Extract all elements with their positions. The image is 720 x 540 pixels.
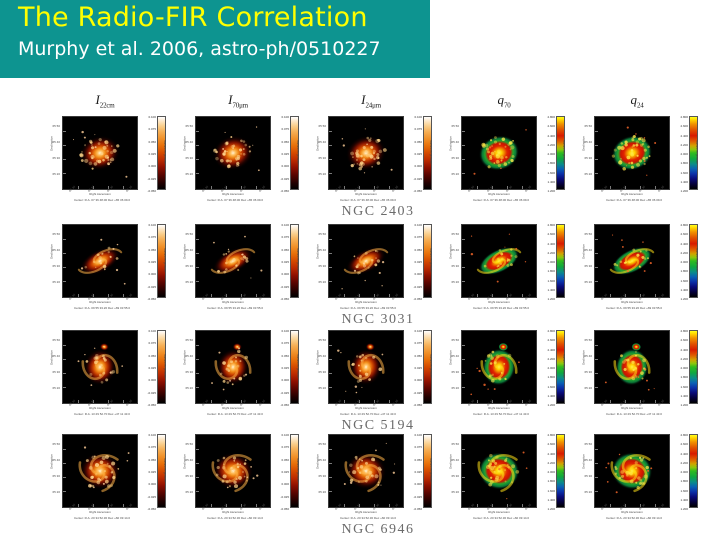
column-subscript: 24μm [365, 102, 380, 110]
galaxy-image [199, 438, 267, 504]
colorbar: 2.8002.6002.4002.2002.0001.8001.6001.400… [545, 116, 571, 190]
colorbar-title: Surface Brightness [296, 458, 300, 482]
axis-tick [63, 159, 66, 160]
colorbar-tick-label: 0.000 [281, 272, 289, 276]
colorbar-tick-label: 0.075 [414, 341, 422, 345]
panel-axes [62, 434, 138, 508]
colorbar-tick-label: 1.400 [547, 288, 555, 292]
colorbar-tick-label: 1.200 [547, 297, 555, 301]
axis-tick [329, 463, 332, 464]
axis-tick [256, 186, 257, 189]
colorbar-title: Surface Brightness [163, 140, 167, 164]
column-header-row: I22cmI70μmI24μmq70q24 [48, 92, 708, 114]
axis-tick [196, 491, 199, 492]
axis-tick [329, 253, 332, 254]
panel-ngc6946-I70um[interactable]: 65 5065 4065 3065 2007 3807 3707 3607 35… [181, 432, 307, 522]
colorbar-title: Surface Brightness [562, 458, 566, 482]
x-axis-label: Right Ascension [594, 511, 670, 514]
panel-axes [328, 434, 404, 508]
y-axis-label: Declination [583, 450, 586, 474]
axis-tick [329, 345, 332, 346]
axis-tick [595, 253, 598, 254]
colorbar: 2.8002.6002.4002.2002.0001.8001.6001.400… [678, 116, 704, 190]
colorbar-tick-label: 0.100 [414, 115, 422, 119]
y-tick-label: 65 40 [451, 354, 459, 358]
galaxy-image [598, 228, 666, 294]
axis-tick [462, 253, 465, 254]
y-tick-label: 65 20 [318, 280, 326, 284]
galaxy-image [199, 334, 267, 400]
y-axis-label: Declination [51, 132, 54, 156]
colorbar: 0.1000.0750.0500.0250.000-0.025-0.050Sur… [146, 224, 172, 298]
panel-caption: Center: R.A. 20 34 52.30 Dec +60 09 14.0 [185, 516, 285, 520]
panel-caption: Center: R.A. 13 29 52.70 Dec +47 11 43.0 [52, 412, 152, 416]
x-axis-label: Right Ascension [195, 407, 271, 410]
colorbar-title: Surface Brightness [163, 458, 167, 482]
y-axis-label: Declination [450, 132, 453, 156]
colorbar-tick-label: 1.400 [547, 180, 555, 184]
colorbar-tick-label: 2.000 [547, 366, 555, 370]
axis-tick [462, 159, 465, 160]
axis-tick [595, 239, 598, 240]
galaxy-image [66, 438, 134, 504]
colorbar-title: Surface Brightness [695, 140, 699, 164]
panel-caption: Center: R.A. 13 29 52.70 Dec +47 11 43.0 [318, 412, 418, 416]
panel-axes [461, 330, 537, 404]
y-tick-label: 65 30 [584, 370, 592, 374]
y-tick-label: 65 30 [52, 264, 60, 268]
axis-tick [329, 359, 332, 360]
colorbar-tick-label: 0.025 [281, 366, 289, 370]
y-tick-label: 65 30 [584, 474, 592, 478]
colorbar-tick-label: 1.800 [547, 375, 555, 379]
colorbar-tick-labels: 2.8002.6002.4002.2002.0001.8001.6001.400… [535, 222, 555, 300]
panel-ngc2403-q24[interactable]: 65 5065 4065 3065 2007 3807 3707 3607 35… [580, 114, 706, 204]
axis-tick [477, 294, 478, 297]
colorbar-tick-label: 1.600 [547, 171, 555, 175]
axis-tick [595, 145, 598, 146]
panel-axes [195, 330, 271, 404]
galaxy-image [465, 438, 533, 504]
y-tick-label: 65 40 [318, 248, 326, 252]
colorbar-tick-label: -0.050 [413, 189, 422, 193]
axis-tick [63, 145, 66, 146]
y-tick-label: 65 40 [318, 140, 326, 144]
y-tick-label: 65 30 [185, 474, 193, 478]
colorbar-tick-label: 0.100 [148, 223, 156, 227]
colorbar-title: Surface Brightness [163, 248, 167, 272]
colorbar-tick-label: 0.050 [148, 140, 156, 144]
colorbar-title: Surface Brightness [695, 458, 699, 482]
axis-tick [595, 387, 598, 388]
colorbar: 0.1000.0750.0500.0250.000-0.025-0.050Sur… [412, 434, 438, 508]
colorbar-tick-label: 1.400 [680, 394, 688, 398]
colorbar-tick-label: 1.600 [547, 489, 555, 493]
colorbar-tick-label: 1.800 [547, 161, 555, 165]
colorbar-tick-label: 2.200 [547, 357, 555, 361]
panel-ngc6946-I24um[interactable]: 65 5065 4065 3065 2007 3807 3707 3607 35… [314, 432, 440, 522]
axis-tick [522, 400, 523, 403]
axis-tick [196, 253, 199, 254]
colorbar-tick-label: 1.600 [547, 385, 555, 389]
colorbar-tick-label: 2.400 [547, 242, 555, 246]
panel-ngc2403-q70[interactable]: 65 5065 4065 3065 2007 3807 3707 3607 35… [447, 114, 573, 204]
axis-tick [595, 281, 598, 282]
colorbar-tick-labels: 0.1000.0750.0500.0250.000-0.025-0.050 [402, 114, 422, 192]
colorbar-tick-label: 0.050 [414, 458, 422, 462]
panel-ngc5194-I24um[interactable]: 65 5065 4065 3065 2007 3807 3707 3607 35… [314, 328, 440, 418]
y-tick-label: 65 20 [584, 172, 592, 176]
axis-tick [610, 294, 611, 297]
axis-tick [595, 491, 598, 492]
colorbar-tick-labels: 0.1000.0750.0500.0250.000-0.025-0.050 [269, 114, 289, 192]
colorbar-tick-label: 2.000 [547, 470, 555, 474]
colorbar-tick-label: 0.000 [148, 272, 156, 276]
colorbar-tick-label: -0.050 [413, 297, 422, 301]
colorbar-tick-label: 0.100 [414, 223, 422, 227]
panel-row-ngc3031: 65 5065 4065 3065 2007 3807 3707 3607 35… [48, 222, 708, 327]
axis-tick [211, 504, 212, 507]
y-tick-label: 65 50 [451, 124, 459, 128]
axis-tick [256, 400, 257, 403]
axis-tick [462, 463, 465, 464]
x-axis-label: Right Ascension [461, 193, 537, 196]
axis-tick [462, 239, 465, 240]
x-axis-label: Right Ascension [328, 407, 404, 410]
colorbar-tick-label: 2.400 [547, 348, 555, 352]
colorbar-tick-label: 2.800 [680, 223, 688, 227]
colorbar-tick-label: 0.100 [414, 329, 422, 333]
axis-tick [63, 387, 66, 388]
panel-caption: Center: R.A. 20 34 52.30 Dec +60 09 14.0 [584, 516, 684, 520]
panel-ngc3031-I24um[interactable]: 65 5065 4065 3065 2007 3807 3707 3607 35… [314, 222, 440, 312]
colorbar-tick-label: 2.200 [680, 143, 688, 147]
colorbar-tick-label: 0.100 [281, 115, 289, 119]
colorbar: 0.1000.0750.0500.0250.000-0.025-0.050Sur… [412, 116, 438, 190]
y-tick-label: 65 30 [584, 156, 592, 160]
colorbar-tick-label: -0.025 [147, 391, 156, 395]
colorbar-title: Surface Brightness [429, 248, 433, 272]
y-axis-label: Declination [184, 240, 187, 264]
column-header-I22cm: I22cm [50, 92, 160, 110]
colorbar-tick-label: 2.600 [680, 232, 688, 236]
panel-ngc2403-I24um[interactable]: 65 5065 4065 3065 2007 3807 3707 3607 35… [314, 114, 440, 204]
colorbar-tick-label: -0.025 [413, 391, 422, 395]
colorbar-tick-label: 0.075 [148, 127, 156, 131]
colorbar-tick-label: 2.200 [547, 251, 555, 255]
panel-ngc6946-I22cm[interactable]: 65 5065 4065 3065 2007 3807 3707 3607 35… [48, 432, 174, 522]
y-tick-label: 65 50 [584, 442, 592, 446]
colorbar-tick-label: 0.000 [281, 482, 289, 486]
x-axis-label: Right Ascension [594, 301, 670, 304]
panel-axes [328, 116, 404, 190]
colorbar-tick-labels: 0.1000.0750.0500.0250.000-0.025-0.050 [269, 432, 289, 510]
galaxy-image [66, 120, 134, 186]
colorbar-tick-label: 0.075 [281, 127, 289, 131]
colorbar-tick-label: 0.075 [414, 445, 422, 449]
colorbar-tick-label: 2.400 [680, 452, 688, 456]
axis-tick [462, 145, 465, 146]
colorbar-tick-label: 0.025 [148, 152, 156, 156]
panel-caption: Center: R.A. 07 36 48.00 Dec +65 36 09.0 [318, 198, 418, 202]
y-tick-label: 65 30 [451, 474, 459, 478]
y-tick-label: 65 50 [52, 442, 60, 446]
axis-tick [196, 449, 199, 450]
panel-axes [62, 330, 138, 404]
colorbar-tick-label: 0.025 [414, 152, 422, 156]
y-tick-label: 65 40 [185, 248, 193, 252]
axis-tick [211, 400, 212, 403]
colorbar-title: Surface Brightness [429, 354, 433, 378]
colorbar-tick-label: 1.800 [680, 161, 688, 165]
colorbar-tick-label: 0.075 [281, 341, 289, 345]
y-tick-label: 65 20 [185, 172, 193, 176]
axis-tick [462, 387, 465, 388]
colorbar-tick-label: -0.025 [413, 495, 422, 499]
colorbar-title: Surface Brightness [562, 140, 566, 164]
colorbar: 0.1000.0750.0500.0250.000-0.025-0.050Sur… [146, 116, 172, 190]
page-title: The Radio-FIR Correlation [18, 2, 430, 34]
colorbar-tick-label: 2.200 [680, 357, 688, 361]
colorbar-tick-labels: 0.1000.0750.0500.0250.000-0.025-0.050 [269, 328, 289, 406]
y-tick-label: 65 50 [185, 124, 193, 128]
panel-ngc3031-q70[interactable]: 65 5065 4065 3065 2007 3807 3707 3607 35… [447, 222, 573, 312]
colorbar-tick-label: -0.050 [147, 297, 156, 301]
panel-ngc5194-I22cm[interactable]: 65 5065 4065 3065 2007 3807 3707 3607 35… [48, 328, 174, 418]
galaxy-image [598, 334, 666, 400]
y-tick-label: 65 30 [52, 156, 60, 160]
colorbar: 0.1000.0750.0500.0250.000-0.025-0.050Sur… [146, 434, 172, 508]
colorbar-tick-label: 0.100 [148, 329, 156, 333]
axis-tick [123, 504, 124, 507]
axis-tick [196, 145, 199, 146]
axis-tick [610, 504, 611, 507]
y-tick-label: 65 20 [52, 386, 60, 390]
axis-tick [344, 294, 345, 297]
axis-tick [123, 294, 124, 297]
colorbar-tick-label: 0.100 [281, 433, 289, 437]
colorbar-tick-label: -0.050 [413, 403, 422, 407]
colorbar-tick-label: 0.000 [281, 164, 289, 168]
x-axis-label: Right Ascension [594, 193, 670, 196]
x-axis-label: Right Ascension [594, 407, 670, 410]
panel-axes [195, 434, 271, 508]
panel-ngc2403-I22cm[interactable]: 65 5065 4065 3065 2007 3807 3707 3607 35… [48, 114, 174, 204]
y-tick-label: 65 40 [584, 354, 592, 358]
y-axis-label: Declination [317, 346, 320, 370]
panel-axes [594, 330, 670, 404]
colorbar-tick-label: 0.000 [414, 378, 422, 382]
colorbar-tick-label: 1.200 [680, 297, 688, 301]
y-tick-label: 65 50 [185, 338, 193, 342]
axis-tick [63, 449, 66, 450]
axis-tick [655, 400, 656, 403]
colorbar: 0.1000.0750.0500.0250.000-0.025-0.050Sur… [412, 224, 438, 298]
colorbar: 0.1000.0750.0500.0250.000-0.025-0.050Sur… [279, 224, 305, 298]
colorbar-tick-label: 0.075 [281, 445, 289, 449]
colorbar: 2.8002.6002.4002.2002.0001.8001.6001.400… [545, 224, 571, 298]
panel-axes [62, 116, 138, 190]
colorbar-tick-label: 2.800 [547, 433, 555, 437]
axis-tick [329, 173, 332, 174]
y-tick-label: 65 20 [52, 280, 60, 284]
panel-caption: Center: R.A. 20 34 52.30 Dec +60 09 14.0 [318, 516, 418, 520]
colorbar-tick-label: 1.200 [547, 189, 555, 193]
colorbar-tick-label: -0.050 [147, 507, 156, 511]
colorbar-tick-labels: 2.8002.6002.4002.2002.0001.8001.6001.400… [535, 114, 555, 192]
colorbar-tick-label: 1.400 [680, 288, 688, 292]
axis-tick [655, 504, 656, 507]
panel-axes [594, 434, 670, 508]
axis-tick [329, 145, 332, 146]
x-axis-label: Right Ascension [62, 193, 138, 196]
colorbar-title: Surface Brightness [562, 248, 566, 272]
colorbar-tick-label: 2.600 [680, 124, 688, 128]
axis-tick [78, 400, 79, 403]
colorbar-tick-label: -0.050 [280, 189, 289, 193]
y-tick-label: 65 40 [451, 458, 459, 462]
colorbar-tick-label: 1.200 [680, 189, 688, 193]
panel-ngc5194-q24[interactable]: 65 5065 4065 3065 2007 3807 3707 3607 35… [580, 328, 706, 418]
y-axis-label: Declination [583, 132, 586, 156]
y-axis-label: Declination [317, 132, 320, 156]
axis-tick [196, 159, 199, 160]
colorbar-tick-label: 1.800 [547, 269, 555, 273]
y-tick-label: 65 20 [584, 386, 592, 390]
axis-tick [63, 267, 66, 268]
y-tick-label: 65 20 [451, 386, 459, 390]
panel-axes [461, 116, 537, 190]
panel-axes [62, 224, 138, 298]
colorbar-tick-label: 2.800 [547, 329, 555, 333]
colorbar-tick-label: 2.000 [680, 152, 688, 156]
axis-tick [196, 281, 199, 282]
panel-ngc3031-q24[interactable]: 65 5065 4065 3065 2007 3807 3707 3607 35… [580, 222, 706, 312]
y-axis-label: Declination [184, 346, 187, 370]
galaxy-image [465, 120, 533, 186]
panel-ngc3031-I22cm[interactable]: 65 5065 4065 3065 2007 3807 3707 3607 35… [48, 222, 174, 312]
axis-tick [329, 131, 332, 132]
y-tick-label: 65 50 [185, 232, 193, 236]
colorbar-tick-label: -0.050 [280, 297, 289, 301]
colorbar: 0.1000.0750.0500.0250.000-0.025-0.050Sur… [279, 330, 305, 404]
galaxy-image [598, 438, 666, 504]
colorbar-tick-label: 1.800 [680, 375, 688, 379]
axis-tick [63, 253, 66, 254]
axis-tick [329, 477, 332, 478]
axis-tick [610, 400, 611, 403]
axis-tick [329, 491, 332, 492]
axis-tick [329, 373, 332, 374]
y-tick-label: 65 40 [52, 248, 60, 252]
panel-axes [461, 224, 537, 298]
panel-axes [594, 224, 670, 298]
panel-row-ngc5194: 65 5065 4065 3065 2007 3807 3707 3607 35… [48, 328, 708, 433]
axis-tick [256, 504, 257, 507]
galaxy-image [465, 334, 533, 400]
axis-tick [462, 131, 465, 132]
y-tick-label: 65 40 [584, 140, 592, 144]
colorbar-tick-label: -0.025 [147, 495, 156, 499]
panel-axes [461, 434, 537, 508]
y-tick-label: 65 20 [318, 172, 326, 176]
panel-caption: Center: R.A. 09 55 33.20 Dec +69 03 55.0 [584, 306, 684, 310]
colorbar-tick-label: 0.000 [148, 378, 156, 382]
axis-tick [477, 400, 478, 403]
axis-tick [344, 504, 345, 507]
panel-caption: Center: R.A. 13 29 52.70 Dec +47 11 43.0 [584, 412, 684, 416]
y-tick-label: 65 50 [584, 338, 592, 342]
y-tick-label: 65 50 [318, 124, 326, 128]
colorbar-tick-label: 0.000 [414, 272, 422, 276]
panel-axes [328, 224, 404, 298]
y-tick-label: 65 40 [52, 354, 60, 358]
colorbar-tick-label: 0.050 [281, 140, 289, 144]
y-tick-label: 65 20 [52, 490, 60, 494]
column-subscript: 70μm [232, 102, 247, 110]
colorbar-tick-labels: 2.8002.6002.4002.2002.0001.8001.6001.400… [668, 114, 688, 192]
y-tick-label: 65 40 [318, 458, 326, 462]
colorbar-tick-label: 2.400 [547, 452, 555, 456]
colorbar-tick-label: -0.025 [147, 177, 156, 181]
colorbar-tick-label: -0.025 [413, 177, 422, 181]
axis-tick [595, 159, 598, 160]
column-header-I24um: I24μm [316, 92, 426, 110]
y-tick-label: 65 20 [185, 280, 193, 284]
colorbar-tick-labels: 2.8002.6002.4002.2002.0001.8001.6001.400… [668, 222, 688, 300]
colorbar-tick-labels: 0.1000.0750.0500.0250.000-0.025-0.050 [402, 222, 422, 300]
y-tick-label: 65 30 [451, 156, 459, 160]
colorbar-tick-label: 1.800 [680, 479, 688, 483]
y-tick-label: 65 20 [451, 490, 459, 494]
colorbar-tick-label: 1.600 [680, 171, 688, 175]
axis-tick [63, 345, 66, 346]
axis-tick [329, 387, 332, 388]
y-tick-label: 65 50 [318, 232, 326, 236]
y-tick-label: 65 20 [584, 490, 592, 494]
colorbar-title: Surface Brightness [296, 248, 300, 272]
colorbar-tick-label: 2.800 [547, 223, 555, 227]
y-tick-label: 65 30 [318, 264, 326, 268]
panel-ngc2403-I70um[interactable]: 65 5065 4065 3065 2007 3807 3707 3607 35… [181, 114, 307, 204]
colorbar-tick-label: 1.400 [680, 180, 688, 184]
y-tick-label: 65 40 [584, 458, 592, 462]
panel-ngc6946-q70[interactable]: 65 5065 4065 3065 2007 3807 3707 3607 35… [447, 432, 573, 522]
panel-caption: Center: R.A. 07 36 48.00 Dec +65 36 09.0 [451, 198, 551, 202]
axis-tick [196, 173, 199, 174]
axis-tick [595, 463, 598, 464]
colorbar-tick-labels: 0.1000.0750.0500.0250.000-0.025-0.050 [136, 432, 156, 510]
axis-tick [344, 400, 345, 403]
axis-tick [123, 400, 124, 403]
y-tick-label: 65 50 [451, 232, 459, 236]
colorbar-tick-label: 1.200 [680, 403, 688, 407]
panel-ngc5194-q70[interactable]: 65 5065 4065 3065 2007 3807 3707 3607 35… [447, 328, 573, 418]
axis-tick [522, 186, 523, 189]
panel-ngc6946-q24[interactable]: 65 5065 4065 3065 2007 3807 3707 3607 35… [580, 432, 706, 522]
x-axis-label: Right Ascension [461, 407, 537, 410]
axis-tick [63, 491, 66, 492]
colorbar-tick-label: 0.050 [148, 458, 156, 462]
axis-tick [462, 477, 465, 478]
colorbar-tick-label: -0.025 [280, 495, 289, 499]
panel-ngc3031-I70um[interactable]: 65 5065 4065 3065 2007 3807 3707 3607 35… [181, 222, 307, 312]
panel-axes [594, 116, 670, 190]
y-axis-label: Declination [317, 450, 320, 474]
axis-tick [595, 131, 598, 132]
panel-ngc5194-I70um[interactable]: 65 5065 4065 3065 2007 3807 3707 3607 35… [181, 328, 307, 418]
y-axis-label: Declination [583, 346, 586, 370]
